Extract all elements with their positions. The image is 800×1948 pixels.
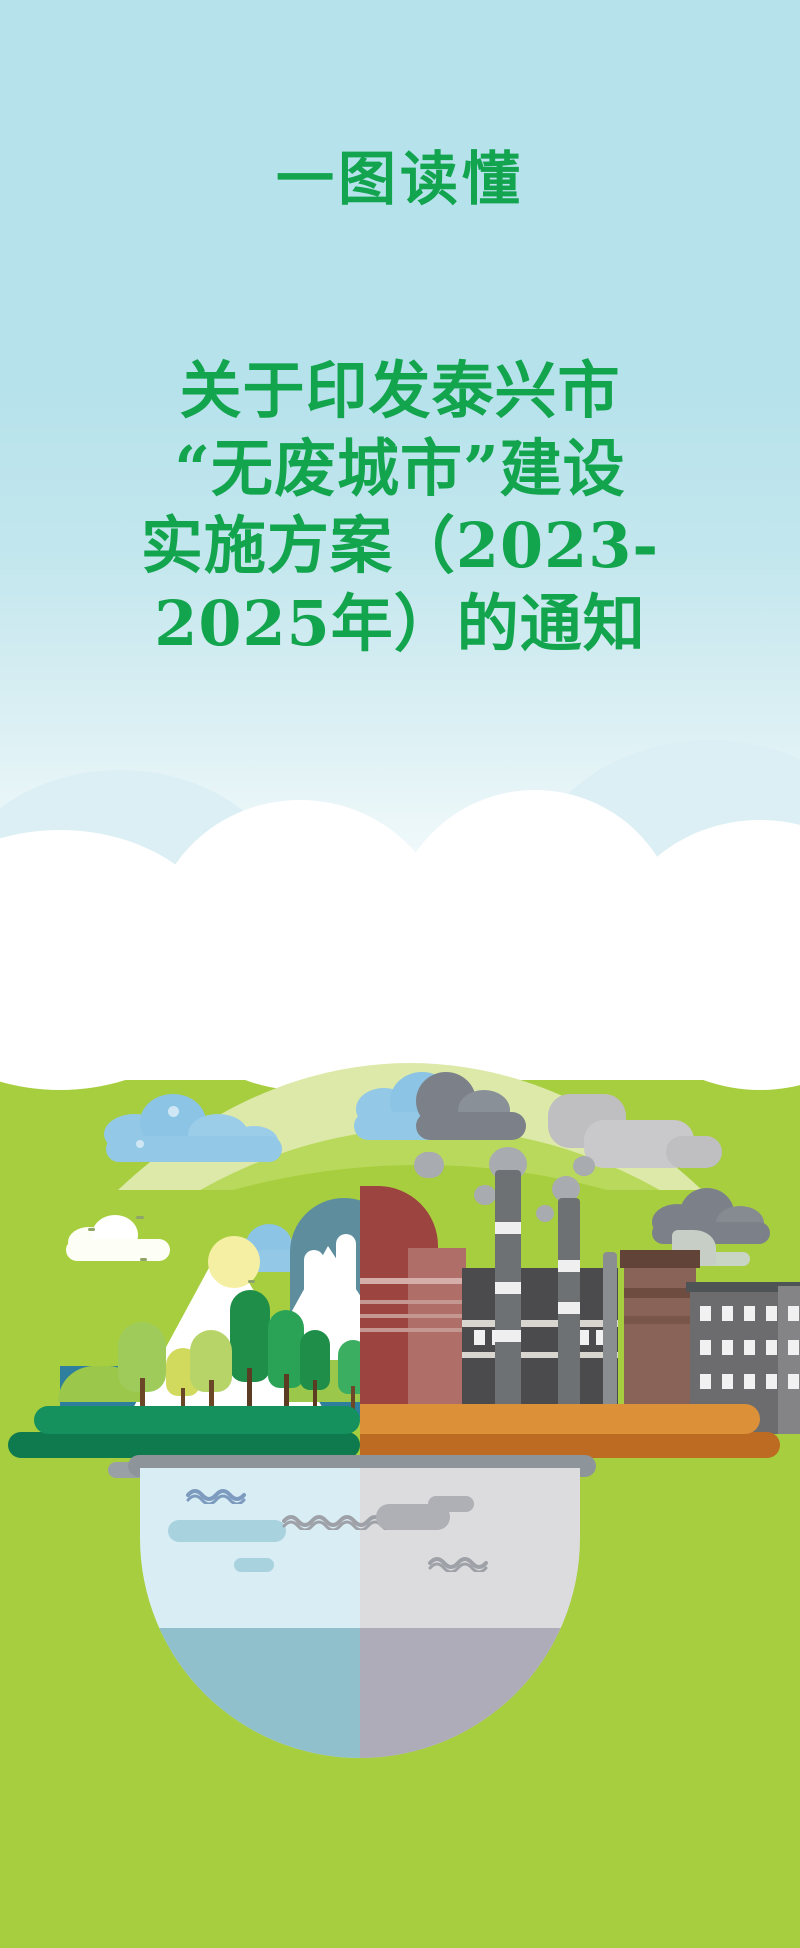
smokestack-short — [558, 1198, 580, 1434]
office-window-r1c1 — [700, 1306, 711, 1321]
clean-water-deep — [140, 1628, 360, 1758]
brown-silo-band-2 — [624, 1316, 696, 1324]
factory-block-band-2 — [462, 1352, 618, 1358]
poster-root: 一图读懂 关于印发泰兴市 “无废城市”建设 实施方案（2023- 2025年）的… — [0, 0, 800, 1948]
platform-green — [34, 1406, 360, 1434]
landscape-illustration — [0, 0, 800, 1948]
clean-water-bar-2 — [234, 1558, 274, 1572]
smoke-puff-3 — [474, 1185, 496, 1205]
factory-block-band — [462, 1320, 618, 1327]
office-window-r2c3 — [744, 1340, 755, 1355]
office-window-r3c5 — [788, 1374, 799, 1389]
polluted-water-deep — [360, 1628, 580, 1758]
office-window-r3c2 — [722, 1374, 733, 1389]
sludge-blob-2 — [428, 1496, 474, 1512]
office-window-r2c5 — [788, 1340, 799, 1355]
red-factory-line-2 — [360, 1300, 466, 1304]
bird-1 — [88, 1228, 95, 1231]
red-factory-line-1 — [360, 1278, 466, 1284]
page-title: 关于印发泰兴市 “无废城市”建设 实施方案（2023- 2025年）的通知 — [60, 352, 740, 662]
bird-3 — [140, 1258, 147, 1261]
office-window-r1c5 — [788, 1306, 799, 1321]
office-window-r3c4 — [766, 1374, 777, 1389]
clean-wave-1 — [186, 1486, 246, 1504]
smokestack-tall — [495, 1170, 521, 1434]
office-window-r1c3 — [744, 1306, 755, 1321]
kicker-label: 一图读懂 — [0, 132, 800, 216]
office-window-r1c2 — [722, 1306, 733, 1321]
water-dome — [140, 1468, 580, 1758]
office-window-r2c2 — [722, 1340, 733, 1355]
bird-4 — [248, 1280, 255, 1283]
platform-orange — [360, 1404, 760, 1434]
clean-water-bar-1 — [168, 1520, 286, 1542]
dirty-wave-2 — [428, 1554, 488, 1572]
page-title-line-2: “无废城市”建设 — [60, 430, 740, 508]
office-window-r1c4 — [766, 1306, 777, 1321]
bird-2 — [136, 1216, 144, 1219]
office-window-r3c3 — [744, 1374, 755, 1389]
smoke-puff-1 — [414, 1152, 444, 1178]
brown-silo-cap — [620, 1250, 700, 1268]
office-window-r3c1 — [700, 1374, 711, 1389]
page-title-line-3: 实施方案（2023- — [60, 507, 740, 585]
page-title-line-4: 2025年）的通知 — [60, 585, 740, 663]
smoke-puff-5 — [536, 1205, 554, 1222]
page-title-line-1: 关于印发泰兴市 — [60, 352, 740, 430]
red-factory-line-4 — [360, 1328, 466, 1332]
office-window-r2c4 — [766, 1340, 777, 1355]
smoke-puff-6 — [573, 1156, 595, 1176]
office-window-r2c1 — [700, 1340, 711, 1355]
factory-window-1 — [474, 1330, 485, 1345]
red-factory-line-3 — [360, 1314, 466, 1318]
